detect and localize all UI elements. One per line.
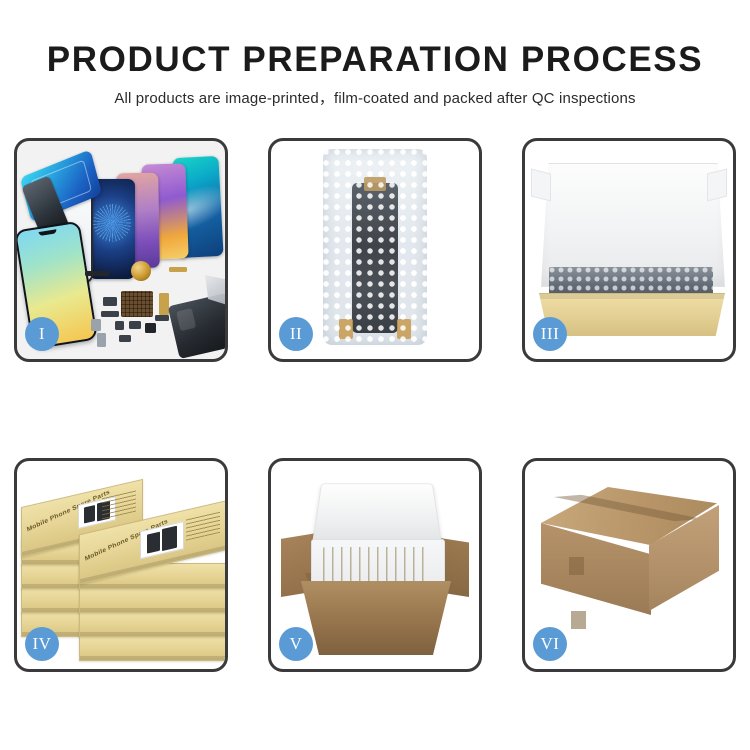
part-chip-icon: [103, 297, 117, 306]
page-title: PRODUCT PREPARATION PROCESS: [0, 40, 750, 80]
process-step-grid: I II III: [14, 138, 736, 672]
tape-tab-right-icon: [397, 319, 411, 339]
packed-boxes-icon: [323, 547, 431, 585]
step-badge-1: I: [25, 317, 59, 351]
step-badge-6: VI: [533, 627, 567, 661]
part-sim-tray-icon: [97, 333, 106, 347]
process-step-panel-1: I: [14, 138, 228, 362]
foam-lid-icon: [312, 483, 442, 543]
bubble-wrap-bag-icon: [323, 149, 427, 345]
process-step-panel-2: II: [268, 138, 482, 362]
stacked-box: [79, 611, 225, 637]
wrapped-phone-part-icon: [352, 183, 398, 333]
product-preparation-process-page: PRODUCT PREPARATION PROCESS All products…: [0, 0, 750, 750]
lid-flap-right-icon: [707, 169, 727, 202]
part-clip-icon: [91, 319, 101, 331]
part-strip-icon: [85, 271, 109, 276]
tape-tab-left-icon: [339, 319, 353, 339]
carton-tape-upper-icon: [569, 557, 584, 575]
step-badge-2: II: [279, 317, 313, 351]
coin-part-icon: [131, 261, 151, 281]
part-bracket-icon: [101, 311, 119, 317]
page-header: PRODUCT PREPARATION PROCESS All products…: [0, 40, 750, 109]
phone-front-notch-icon: [39, 229, 57, 236]
phone-back-housing-icon: [168, 293, 225, 359]
part-button-icon: [119, 335, 131, 342]
gold-flex-icon: [169, 267, 187, 272]
kraft-box-base-icon: [539, 293, 725, 336]
process-step-panel-3: III: [522, 138, 736, 362]
circuit-board-icon: [121, 291, 153, 317]
flex-cable-icon: [159, 293, 169, 315]
stacked-box: [79, 635, 225, 661]
part-camera-icon: [145, 323, 156, 333]
part-screw-icon: [115, 321, 124, 330]
process-step-panel-4: Mobile Phone Spare Parts Mobile P: [14, 458, 228, 672]
page-subtitle: All products are image-printed，film-coat…: [0, 89, 750, 109]
carton-tape-lower-icon: [571, 611, 586, 629]
process-step-panel-6: VI: [522, 458, 736, 672]
step-badge-4: IV: [25, 627, 59, 661]
part-speaker-icon: [155, 315, 169, 321]
lid-flap-left-icon: [531, 169, 551, 202]
step-badge-5: V: [279, 627, 313, 661]
process-step-panel-5: V: [268, 458, 482, 672]
carton-body-icon: [301, 581, 451, 655]
part-connector-icon: [129, 321, 141, 329]
step-badge-3: III: [533, 317, 567, 351]
stacked-box: [79, 587, 225, 613]
spare-parts-group-icon: [85, 257, 225, 353]
box-spec-lines-icon: [186, 511, 220, 541]
